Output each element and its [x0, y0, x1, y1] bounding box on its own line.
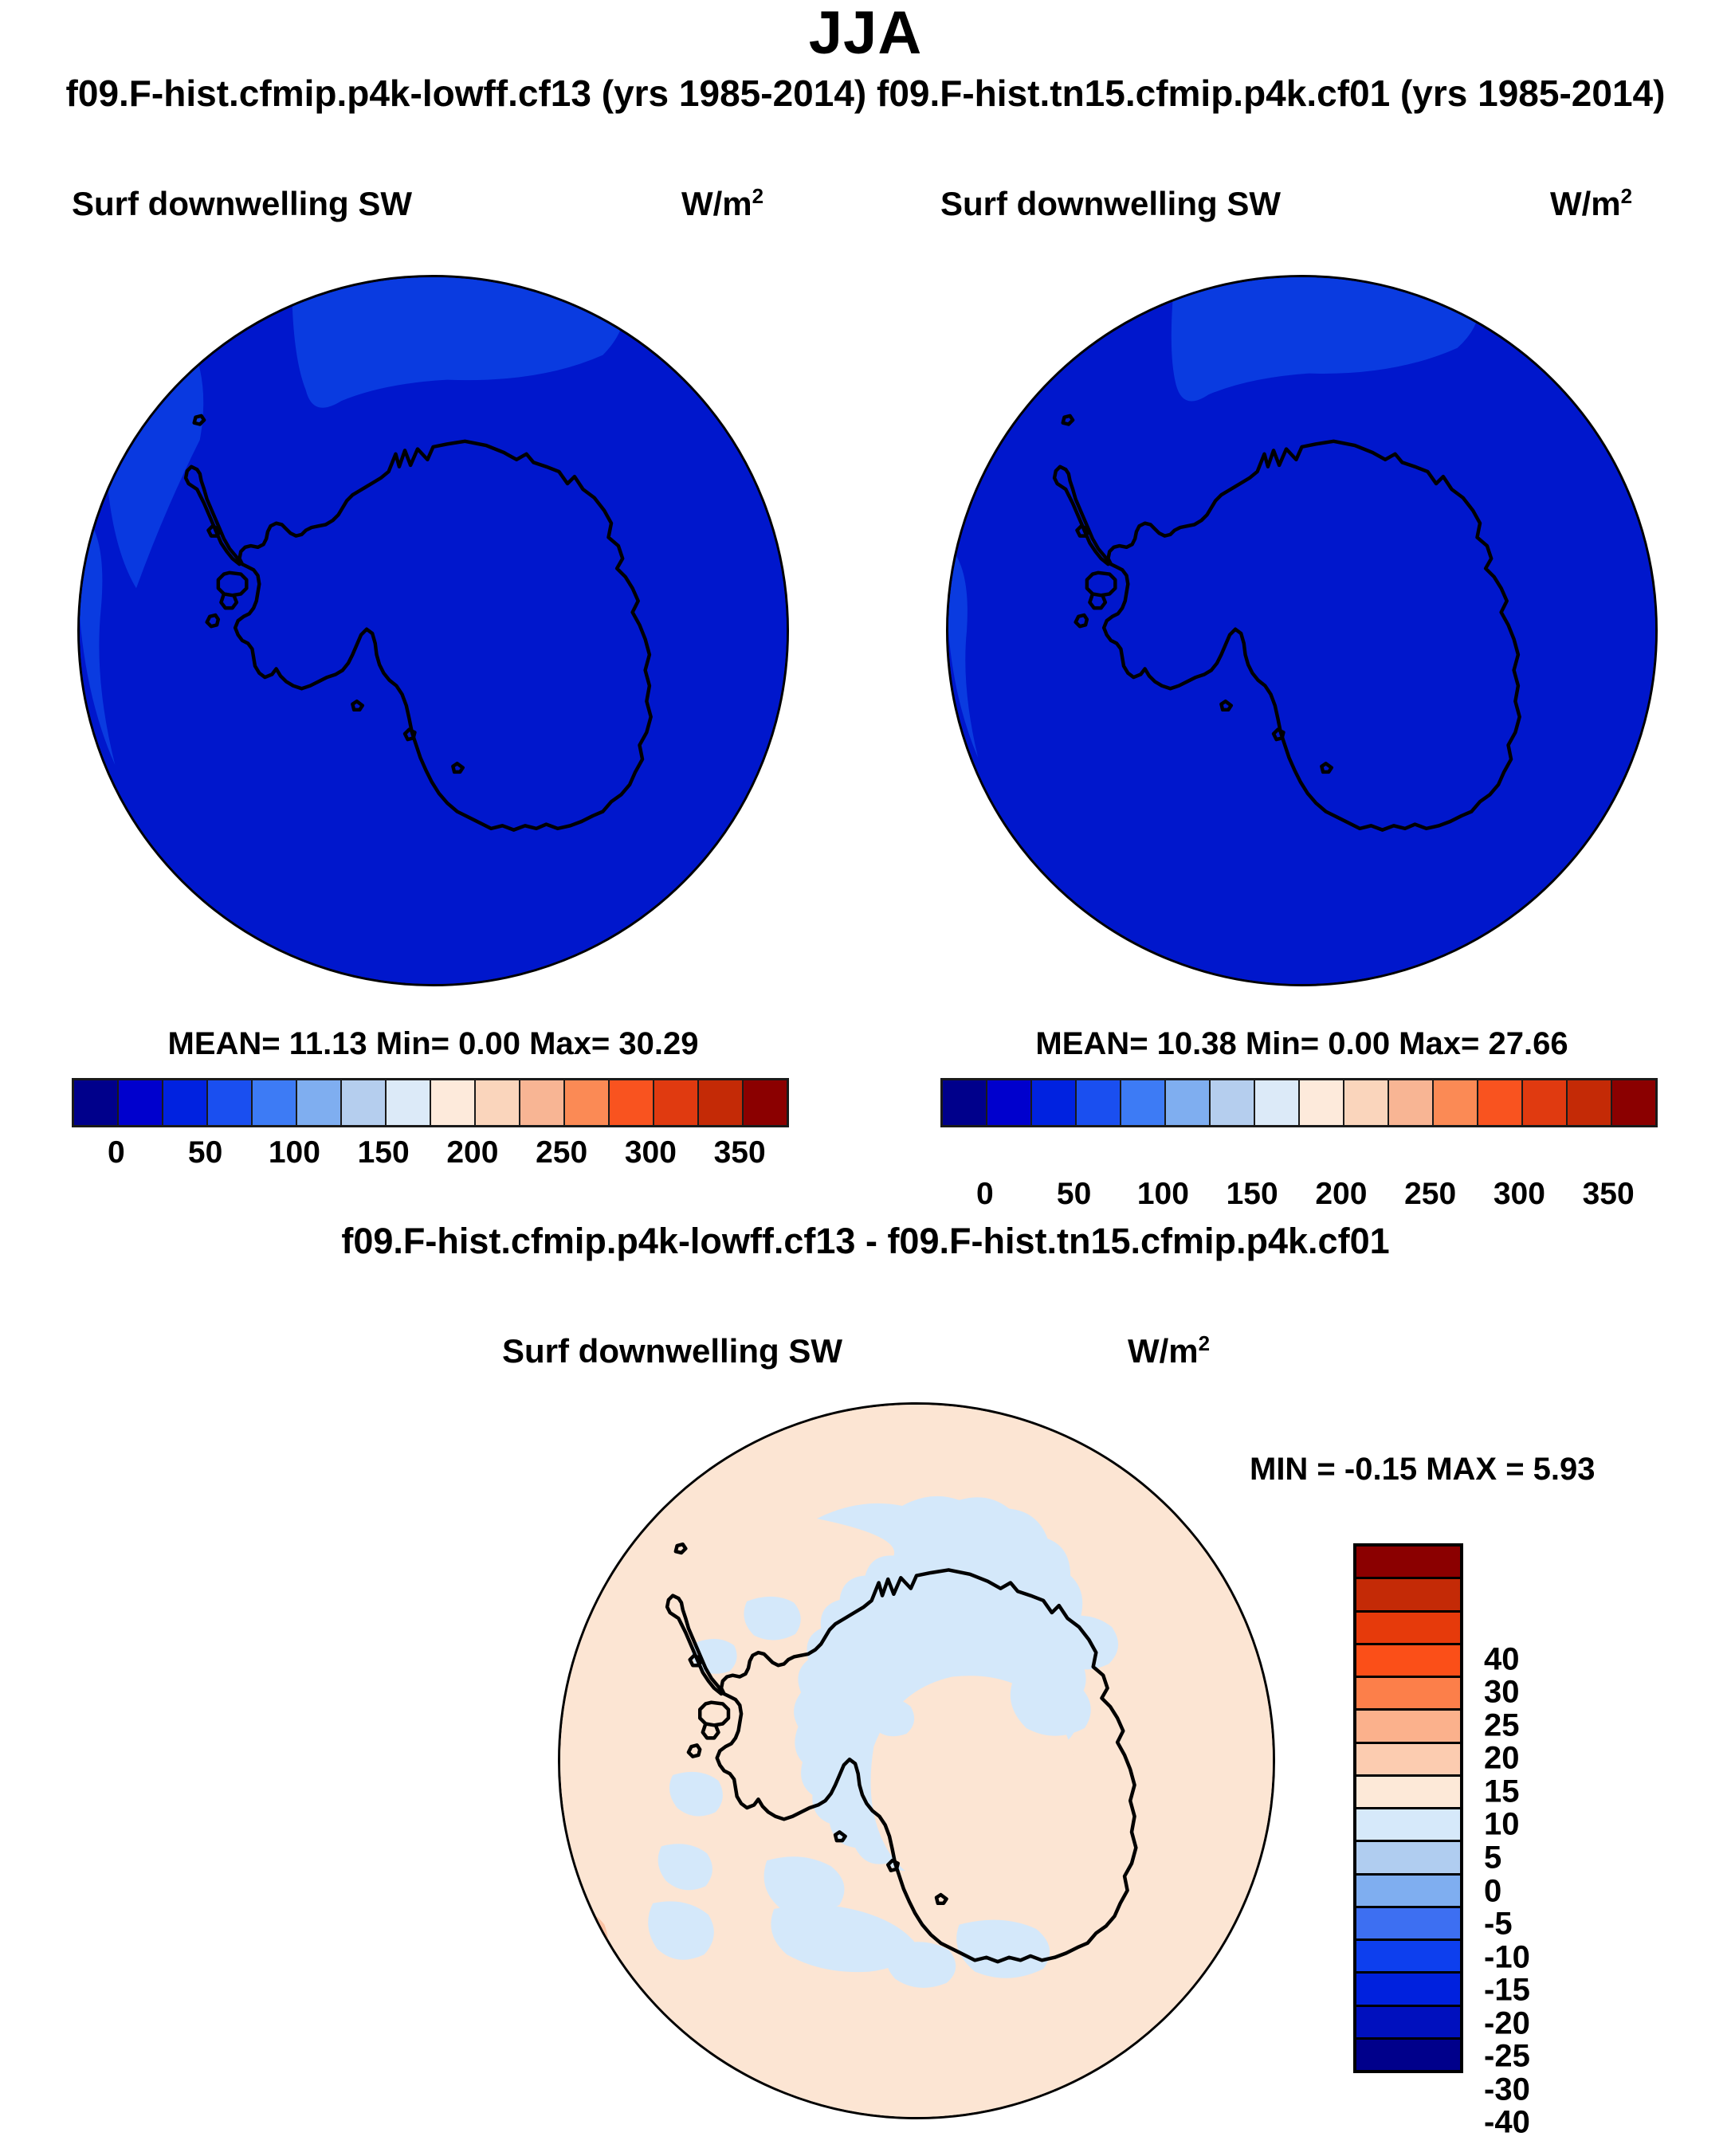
difference-colorbar	[1353, 1543, 1463, 2073]
colorbar-segment	[1356, 1744, 1460, 1777]
left-panel-variable-label: Surf downwelling SW	[72, 185, 412, 223]
colorbar-tick-label: 0	[1484, 1873, 1580, 1909]
colorbar-segment	[1568, 1080, 1612, 1125]
left-units-exponent: 2	[752, 184, 763, 208]
colorbar-tick-label: 30	[1484, 1675, 1580, 1711]
colorbar-segment	[1300, 1080, 1344, 1125]
difference-units-text: W/m	[1128, 1332, 1199, 1370]
colorbar-segment	[1356, 1613, 1460, 1645]
colorbar-segment	[1389, 1080, 1434, 1125]
colorbar-tick-label: 5	[1484, 1840, 1580, 1876]
colorbar-segment	[1356, 1711, 1460, 1743]
colorbar-segment	[1356, 1941, 1460, 1974]
colorbar-tick-label: 15	[1484, 1774, 1580, 1809]
colorbar-tick-label: 350	[714, 1135, 766, 1170]
colorbar-segment	[1523, 1080, 1568, 1125]
colorbar-segment	[1356, 2007, 1460, 2040]
difference-panel-variable-label: Surf downwelling SW	[502, 1332, 842, 1370]
colorbar-tick-label: -20	[1484, 2005, 1580, 2041]
colorbar-segment	[208, 1080, 253, 1125]
colorbar-tick-label: 100	[1137, 1177, 1189, 1212]
colorbar-segment	[1356, 2040, 1460, 2070]
difference-units-exponent: 2	[1199, 1331, 1210, 1355]
colorbar-segment	[119, 1080, 163, 1125]
colorbar-tick-label: 100	[269, 1135, 320, 1170]
colorbar-tick-label: 10	[1484, 1807, 1580, 1843]
colorbar-segment	[1166, 1080, 1211, 1125]
colorbar-segment	[253, 1080, 297, 1125]
difference-title: f09.F-hist.cfmip.p4k-lowff.cf13 - f09.F-…	[0, 1221, 1731, 1262]
colorbar-tick-label: 0	[976, 1177, 994, 1212]
right-map-globe	[946, 275, 1658, 986]
colorbar-segment	[1356, 1974, 1460, 2006]
right-panel-variable-label: Surf downwelling SW	[940, 185, 1281, 223]
colorbar-segment	[610, 1080, 654, 1125]
colorbar-segment	[1032, 1080, 1077, 1125]
right-units-text: W/m	[1550, 185, 1621, 222]
colorbar-segment	[699, 1080, 744, 1125]
colorbar-tick-label: 25	[1484, 1707, 1580, 1743]
right-colorbar	[940, 1078, 1658, 1127]
case-subtitle: f09.F-hist.cfmip.p4k-lowff.cf13 (yrs 198…	[0, 72, 1731, 115]
colorbar-segment	[1356, 1777, 1460, 1809]
colorbar-tick-label: 250	[1404, 1177, 1456, 1212]
colorbar-segment	[387, 1080, 431, 1125]
colorbar-tick-label: -15	[1484, 1973, 1580, 2009]
colorbar-segment	[1356, 1678, 1460, 1711]
colorbar-segment	[1356, 1579, 1460, 1612]
colorbar-tick-label: 50	[188, 1135, 222, 1170]
colorbar-tick-label: -30	[1484, 2072, 1580, 2107]
colorbar-segment	[163, 1080, 208, 1125]
colorbar-segment	[1255, 1080, 1300, 1125]
colorbar-segment	[1211, 1080, 1255, 1125]
colorbar-segment	[1356, 1842, 1460, 1875]
colorbar-segment	[342, 1080, 387, 1125]
colorbar-tick-label: -5	[1484, 1907, 1580, 1942]
colorbar-segment	[1121, 1080, 1166, 1125]
colorbar-segment	[1356, 1876, 1460, 1908]
colorbar-segment	[1356, 1908, 1460, 1941]
right-panel-units: W/m2	[1550, 185, 1632, 223]
colorbar-tick-label: -25	[1484, 2039, 1580, 2075]
colorbar-segment	[565, 1080, 610, 1125]
left-panel-stats: MEAN= 11.13 Min= 0.00 Max= 30.29	[77, 1026, 789, 1062]
left-colorbar-ticks: 050100150200250300350	[72, 1135, 789, 1177]
colorbar-segment	[1434, 1080, 1478, 1125]
colorbar-segment	[1612, 1080, 1655, 1125]
colorbar-tick-label: 150	[358, 1135, 410, 1170]
colorbar-segment	[1478, 1080, 1523, 1125]
colorbar-tick-label: 300	[1494, 1177, 1545, 1212]
colorbar-tick-label: 350	[1583, 1177, 1635, 1212]
colorbar-segment	[1356, 1645, 1460, 1678]
colorbar-tick-label: -10	[1484, 1939, 1580, 1975]
difference-minmax: MIN = -0.15 MAX = 5.93	[1250, 1452, 1596, 1488]
colorbar-segment	[987, 1080, 1032, 1125]
colorbar-segment	[1077, 1080, 1121, 1125]
colorbar-tick-label: -40	[1484, 2105, 1580, 2141]
colorbar-tick-label: 40	[1484, 1641, 1580, 1677]
colorbar-segment	[744, 1080, 787, 1125]
colorbar-tick-label: 0	[108, 1135, 125, 1170]
colorbar-tick-label: 250	[536, 1135, 587, 1170]
colorbar-tick-label: 200	[1315, 1177, 1367, 1212]
colorbar-segment	[1356, 1546, 1460, 1579]
difference-map-globe	[558, 1402, 1275, 2119]
difference-colorbar-ticks: 40302520151050-5-10-15-20-25-30-40	[1484, 1626, 1596, 2156]
colorbar-segment	[520, 1080, 565, 1125]
left-map-globe	[77, 275, 789, 986]
right-units-exponent: 2	[1621, 184, 1632, 208]
colorbar-segment	[297, 1080, 342, 1125]
left-units-text: W/m	[681, 185, 752, 222]
colorbar-tick-label: 300	[625, 1135, 677, 1170]
colorbar-segment	[1344, 1080, 1389, 1125]
colorbar-segment	[74, 1080, 119, 1125]
colorbar-tick-label: 150	[1227, 1177, 1278, 1212]
colorbar-segment	[476, 1080, 520, 1125]
left-colorbar	[72, 1078, 789, 1127]
colorbar-tick-label: 50	[1057, 1177, 1091, 1212]
page-title: JJA	[0, 0, 1731, 68]
colorbar-tick-label: 20	[1484, 1741, 1580, 1777]
left-panel-units: W/m2	[681, 185, 763, 223]
right-panel-stats: MEAN= 10.38 Min= 0.00 Max= 27.66	[946, 1026, 1658, 1062]
colorbar-segment	[654, 1080, 699, 1125]
right-colorbar-ticks: 050100150200250300350	[940, 1177, 1658, 1218]
colorbar-segment	[943, 1080, 987, 1125]
colorbar-segment	[431, 1080, 476, 1125]
difference-panel-units: W/m2	[1128, 1332, 1210, 1370]
colorbar-segment	[1356, 1809, 1460, 1842]
colorbar-tick-label: 200	[446, 1135, 498, 1170]
